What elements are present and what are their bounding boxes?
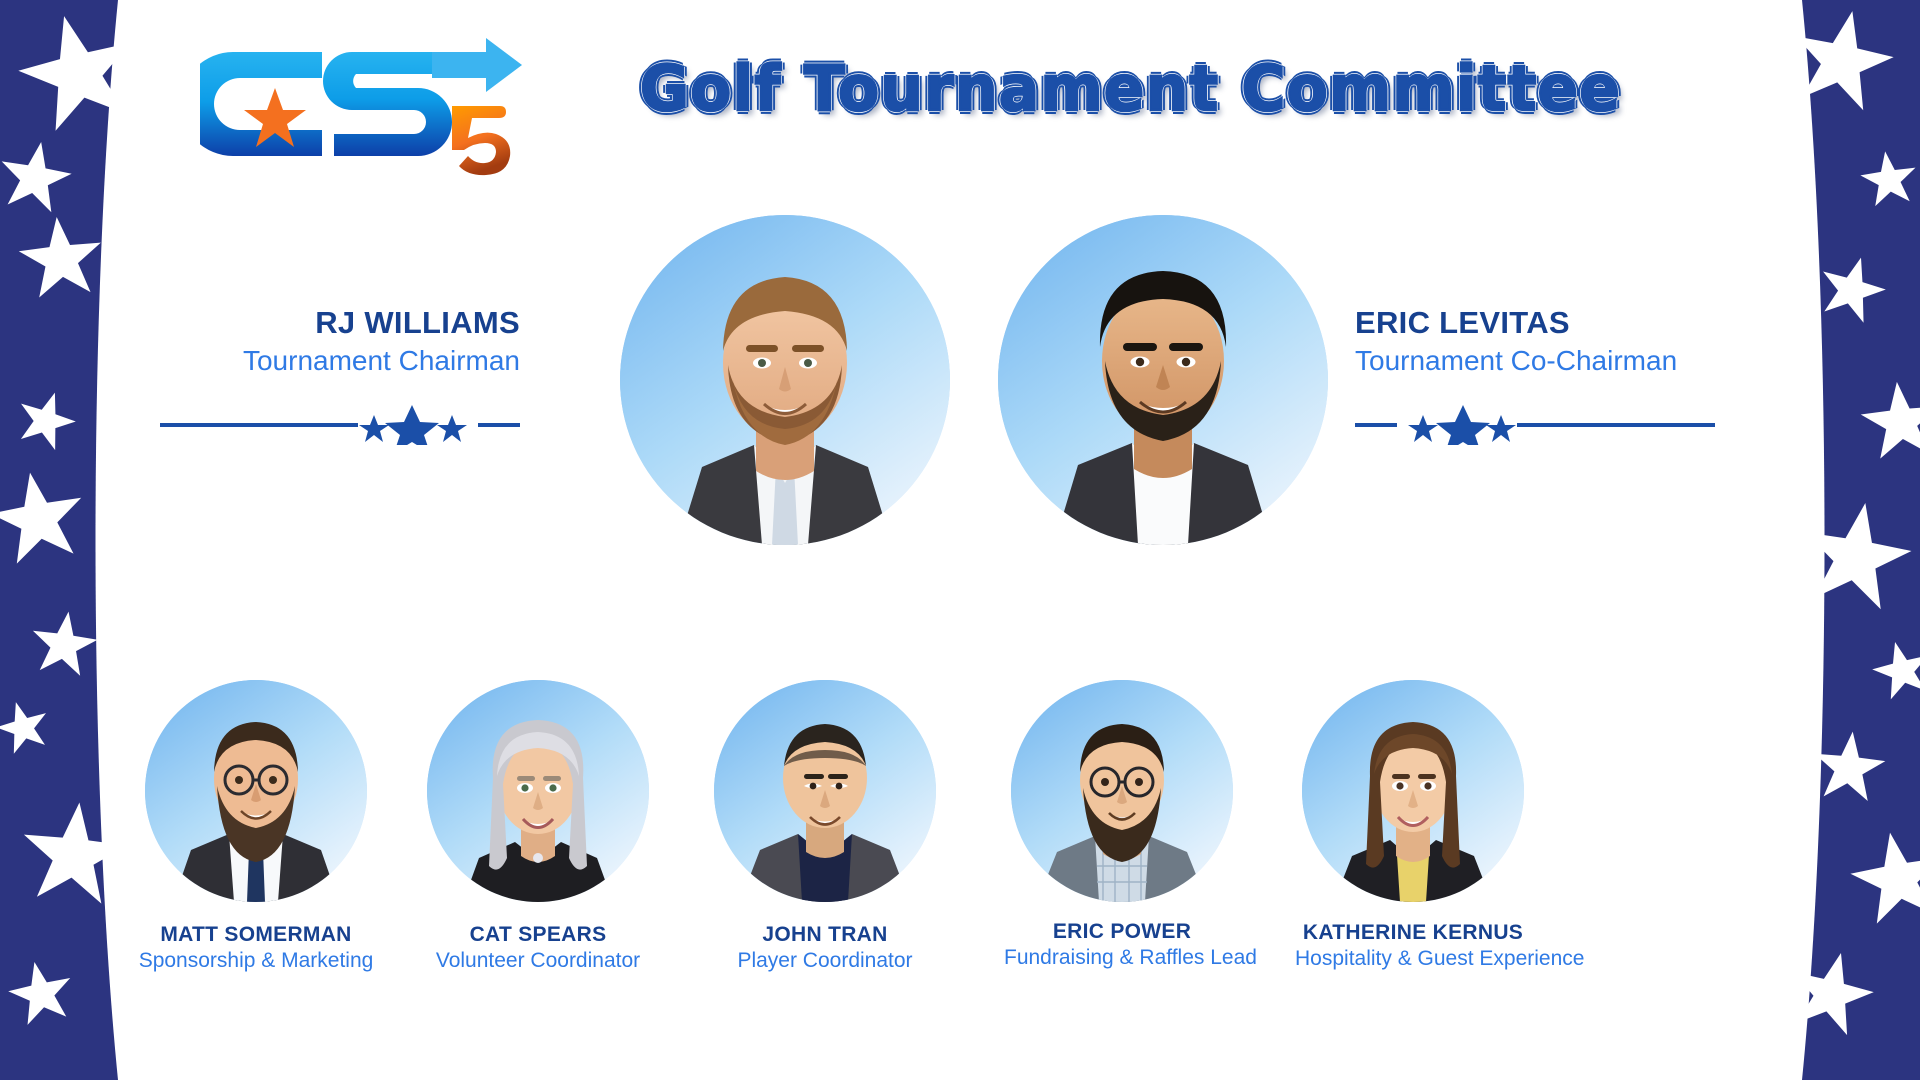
leader-photo-chairman [620, 215, 950, 545]
star-divider [160, 405, 520, 445]
member-photo [427, 680, 649, 902]
leader-photo-cochairman [998, 215, 1328, 545]
member-role: Fundraising & Raffles Lead [1004, 945, 1240, 971]
member-card: MATT SOMERMAN Sponsorship & Marketing [138, 680, 374, 974]
member-role: Volunteer Coordinator [420, 948, 656, 974]
cs5-logo [200, 30, 570, 180]
member-name: KATHERINE KERNUS [1295, 920, 1531, 945]
leader-card-cochairman: ERIC LEVITAS Tournament Co-Chairman [1355, 305, 1715, 445]
member-card: KATHERINE KERNUS Hospitality & Guest Exp… [1295, 680, 1531, 972]
portrait-cat-spears [427, 680, 649, 902]
portrait-eric-levitas [998, 215, 1328, 545]
portrait-katherine-kernus [1302, 680, 1524, 902]
member-name: JOHN TRAN [707, 922, 943, 947]
star-divider [1355, 405, 1715, 445]
member-name: CAT SPEARS [420, 922, 656, 947]
member-photo [145, 680, 367, 902]
member-photo [1302, 680, 1524, 902]
leader-name: RJ WILLIAMS [160, 305, 520, 341]
member-photo [714, 680, 936, 902]
leader-role: Tournament Co-Chairman [1355, 343, 1715, 379]
member-name: ERIC POWER [1004, 919, 1240, 944]
member-card: ERIC POWER Fundraising & Raffles Lead [1004, 680, 1240, 971]
member-photo [1011, 680, 1233, 902]
member-role: Sponsorship & Marketing [138, 948, 374, 974]
leader-name: ERIC LEVITAS [1355, 305, 1715, 341]
page-title: Golf Tournament Committee [640, 52, 1677, 125]
member-role: Hospitality & Guest Experience [1295, 946, 1531, 972]
portrait-matt-somerman [145, 680, 367, 902]
portrait-john-tran [714, 680, 936, 902]
member-card: CAT SPEARS Volunteer Coordinator [420, 680, 656, 974]
portrait-rj-williams [620, 215, 950, 545]
leaders-row: RJ WILLIAMS Tournament Chairman [0, 215, 1920, 545]
member-name: MATT SOMERMAN [138, 922, 374, 947]
member-role: Player Coordinator [707, 948, 943, 974]
committee-row: MATT SOMERMAN Sponsorship & Marketing [0, 680, 1920, 1000]
portrait-eric-power [1011, 680, 1233, 902]
member-card: JOHN TRAN Player Coordinator [707, 680, 943, 974]
page-header: Golf Tournament Committee [0, 0, 1920, 200]
leader-role: Tournament Chairman [160, 343, 520, 379]
leader-card-chairman: RJ WILLIAMS Tournament Chairman [160, 305, 520, 445]
